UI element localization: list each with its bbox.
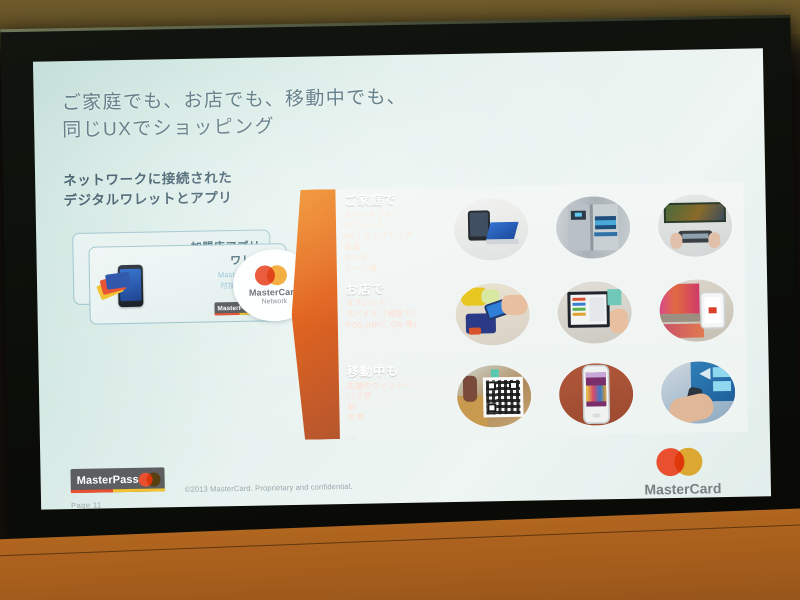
left-section-heading: ネットワークに接続された デジタルワレットとアプリ — [63, 168, 233, 212]
grid-row-label-home: ご家庭で スマートフォン タブレット PC / ラップトップ 家電 テレビ ゲー… — [335, 187, 440, 274]
smartphone-shopping-app-photo — [559, 363, 634, 426]
row-heading: ご家庭で — [343, 193, 433, 208]
masterpass-footer-label: MasterPass — [77, 474, 139, 487]
hand-at-station-display-photo — [660, 361, 735, 424]
tablet-and-laptop-photo — [454, 197, 529, 260]
mastercard-network-name: MasterCard — [249, 287, 300, 298]
row-items: 店舗のウィンドー バス停 駅 空港 — [347, 380, 438, 424]
masterpass-footer-logo: MasterPass — [70, 467, 164, 493]
row-items: タブレット モバイル（通路で） POS (NFC, QR 等) — [345, 298, 436, 332]
pos-register-screen-photo — [557, 281, 632, 344]
grid-row-label-onthego: 移動中も 店舗のウィンドー バス停 駅 空港 — [338, 358, 442, 439]
grid-cell — [545, 272, 645, 353]
channels-grid: ご家庭で スマートフォン タブレット PC / ラップトップ 家電 テレビ ゲー… — [335, 182, 748, 439]
grid-row-label-store: お店で タブレット モバイル（通路で） POS (NFC, QR 等) — [337, 276, 441, 357]
copyright-text: ©2013 MasterCard. Proprietary and confid… — [185, 482, 353, 494]
grid-cell — [648, 352, 748, 433]
grid-cell — [546, 354, 646, 435]
tv-and-game-console-photo — [657, 194, 732, 257]
presentation-slide: ご家庭でも、お店でも、移動中でも、 同じUXでショッピング ネットワークに接続さ… — [33, 48, 771, 509]
row-heading: 移動中も — [347, 364, 437, 379]
mastercard-footer-logo: MasterCard — [636, 447, 729, 498]
projector-screen-frame: ご家庭でも、お店でも、移動中でも、 同じUXでショッピング ネットワークに接続さ… — [0, 15, 799, 541]
mastercard-network-sub: Network — [262, 298, 288, 305]
smart-refrigerator-photo — [556, 196, 631, 259]
mastercard-footer-label: MasterCard — [644, 480, 721, 497]
grid-cell — [645, 182, 745, 269]
grid-cell — [646, 270, 746, 351]
mastercard-circles-icon — [254, 265, 294, 286]
presentation-room-photo: ご家庭でも、お店でも、移動中でも、 同じUXでショッピング ネットワークに接続さ… — [0, 0, 800, 600]
grid-cell — [443, 274, 543, 355]
grid-cell — [444, 356, 544, 437]
grid-cell — [543, 184, 643, 271]
slide-title: ご家庭でも、お店でも、移動中でも、 同じUXでショッピング — [62, 85, 408, 145]
phone-tap-payment-terminal-photo — [455, 283, 530, 346]
page-label: Page 11 — [71, 501, 102, 510]
mastercard-circles-icon — [139, 472, 159, 486]
grid-cell — [441, 185, 541, 272]
mastercard-circles-icon — [654, 447, 711, 476]
tablet-in-store-aisle-photo — [659, 279, 734, 342]
qr-code-poster-photo — [457, 365, 532, 428]
row-items: スマートフォン タブレット PC / ラップトップ 家電 テレビ ゲーム機 — [344, 209, 435, 274]
row-heading: お店で — [345, 282, 435, 297]
